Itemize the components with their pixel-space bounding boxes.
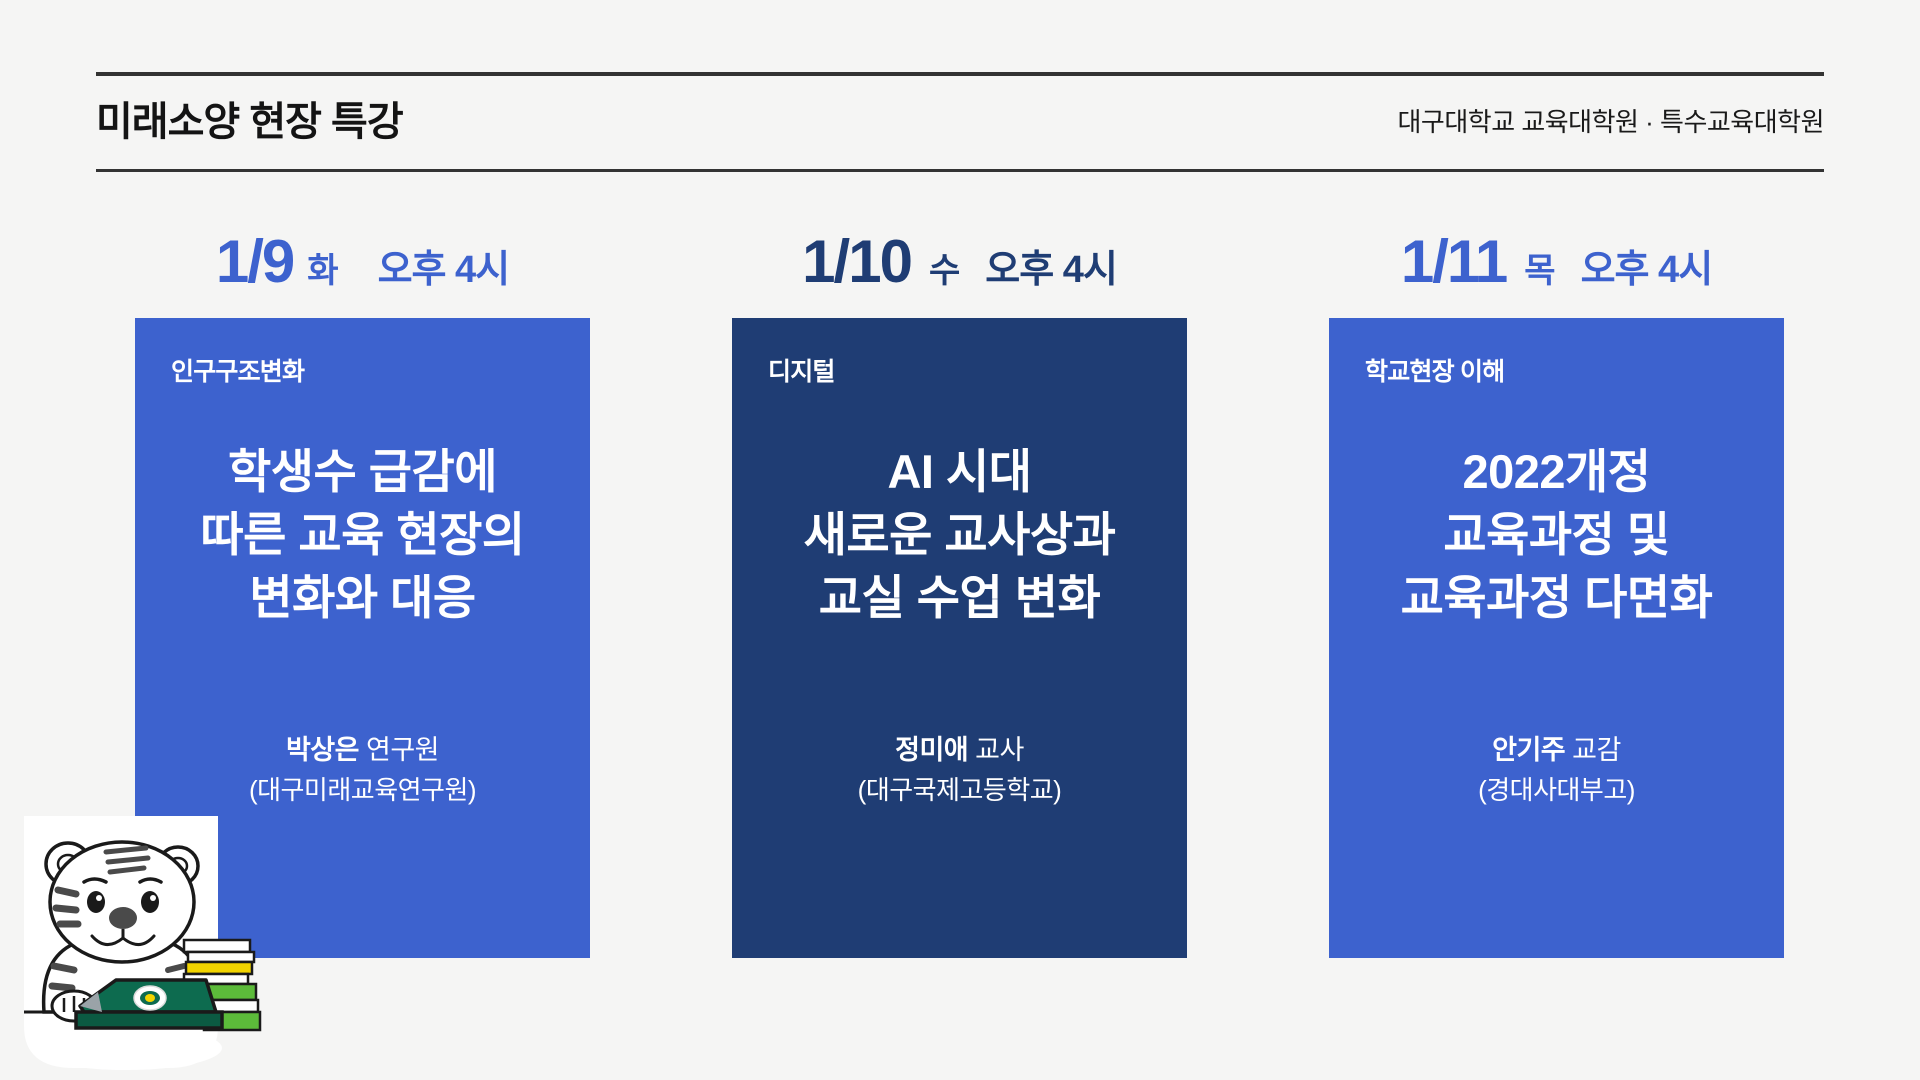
poster-root: 미래소양 현장 특강 대구대학교 교육대학원 · 특수교육대학원 1/9 화 오… (0, 0, 1920, 1080)
speaker-role: 연구원 (366, 735, 439, 765)
session-title-2: AI 시대 새로운 교사상과 교실 수업 변화 (762, 441, 1157, 732)
session-time-3: 오후 4시 (1581, 251, 1713, 289)
session-title-3: 2022개정 교육과정 및 교육과정 다면화 (1359, 441, 1754, 732)
session-speaker-3: 안기주 교감 (경대사대부고) (1359, 732, 1754, 808)
speaker-name: 박상은 (286, 735, 359, 765)
poster-header: 미래소양 현장 특강 대구대학교 교육대학원 · 특수교육대학원 (96, 72, 1824, 172)
speaker-name: 정미애 (895, 735, 968, 765)
session-date-2: 1/10 (802, 232, 911, 292)
speaker-role: 교감 (1572, 735, 1621, 765)
session-title-line: 교육과정 다면화 (1359, 567, 1754, 630)
session-card-3: 학교현장 이해 2022개정 교육과정 및 교육과정 다면화 안기주 교감 (경… (1329, 318, 1784, 958)
speaker-role: 교사 (975, 735, 1024, 765)
session-title-line: 따른 교육 현장의 (165, 504, 560, 567)
session-weekday-3: 목 (1524, 254, 1554, 288)
speaker-name: 안기주 (1492, 735, 1565, 765)
session-title-line: 2022개정 (1359, 441, 1754, 504)
session-title-line: 교육과정 및 (1359, 504, 1754, 567)
session-title-line: 새로운 교사상과 (762, 504, 1157, 567)
session-date-row-3: 1/11 목 오후 4시 (1290, 232, 1823, 318)
organization-label: 대구대학교 교육대학원 · 특수교육대학원 (1398, 109, 1824, 137)
session-tag-3: 학교현장 이해 (1359, 360, 1504, 385)
session-tag-2: 디지털 (762, 360, 835, 385)
session-time-1: 오후 4시 (378, 251, 510, 289)
session-column-3: 1/11 목 오후 4시 학교현장 이해 2022개정 교육과정 및 교육과정 … (1290, 232, 1823, 958)
session-time-2: 오후 4시 (985, 251, 1117, 289)
session-weekday-1: 화 (307, 254, 337, 288)
session-weekday-2: 수 (929, 254, 959, 288)
speaker-name-role: 안기주 교감 (1359, 732, 1754, 768)
session-title-line: 변화와 대응 (165, 567, 560, 630)
page-title: 미래소양 현장 특강 (96, 102, 403, 144)
session-column-2: 1/10 수 오후 4시 디지털 AI 시대 새로운 교사상과 교실 수업 변화… (693, 232, 1226, 958)
session-speaker-1: 박상은 연구원 (대구미래교육연구원) (165, 732, 560, 808)
session-columns: 1/9 화 오후 4시 인구구조변화 학생수 급감에 따른 교육 현장의 변화와… (96, 232, 1824, 958)
session-tag-1: 인구구조변화 (165, 360, 304, 385)
session-title-line: AI 시대 (762, 441, 1157, 504)
session-title-1: 학생수 급감에 따른 교육 현장의 변화와 대응 (165, 441, 560, 732)
session-date-1: 1/9 (216, 232, 293, 292)
tiger-mascot-icon (18, 816, 308, 1076)
speaker-affiliation: (경대사대부고) (1359, 773, 1754, 808)
session-title-line: 학생수 급감에 (165, 441, 560, 504)
speaker-name-role: 정미애 교사 (762, 732, 1157, 768)
session-title-line: 교실 수업 변화 (762, 567, 1157, 630)
speaker-affiliation: (대구미래교육연구원) (165, 773, 560, 808)
session-speaker-2: 정미애 교사 (대구국제고등학교) (762, 732, 1157, 808)
session-date-3: 1/11 (1401, 232, 1506, 292)
session-card-2: 디지털 AI 시대 새로운 교사상과 교실 수업 변화 정미애 교사 (대구국제… (732, 318, 1187, 958)
session-date-row-1: 1/9 화 오후 4시 (96, 232, 629, 318)
speaker-affiliation: (대구국제고등학교) (762, 773, 1157, 808)
session-date-row-2: 1/10 수 오후 4시 (693, 232, 1226, 318)
speaker-name-role: 박상은 연구원 (165, 732, 560, 768)
